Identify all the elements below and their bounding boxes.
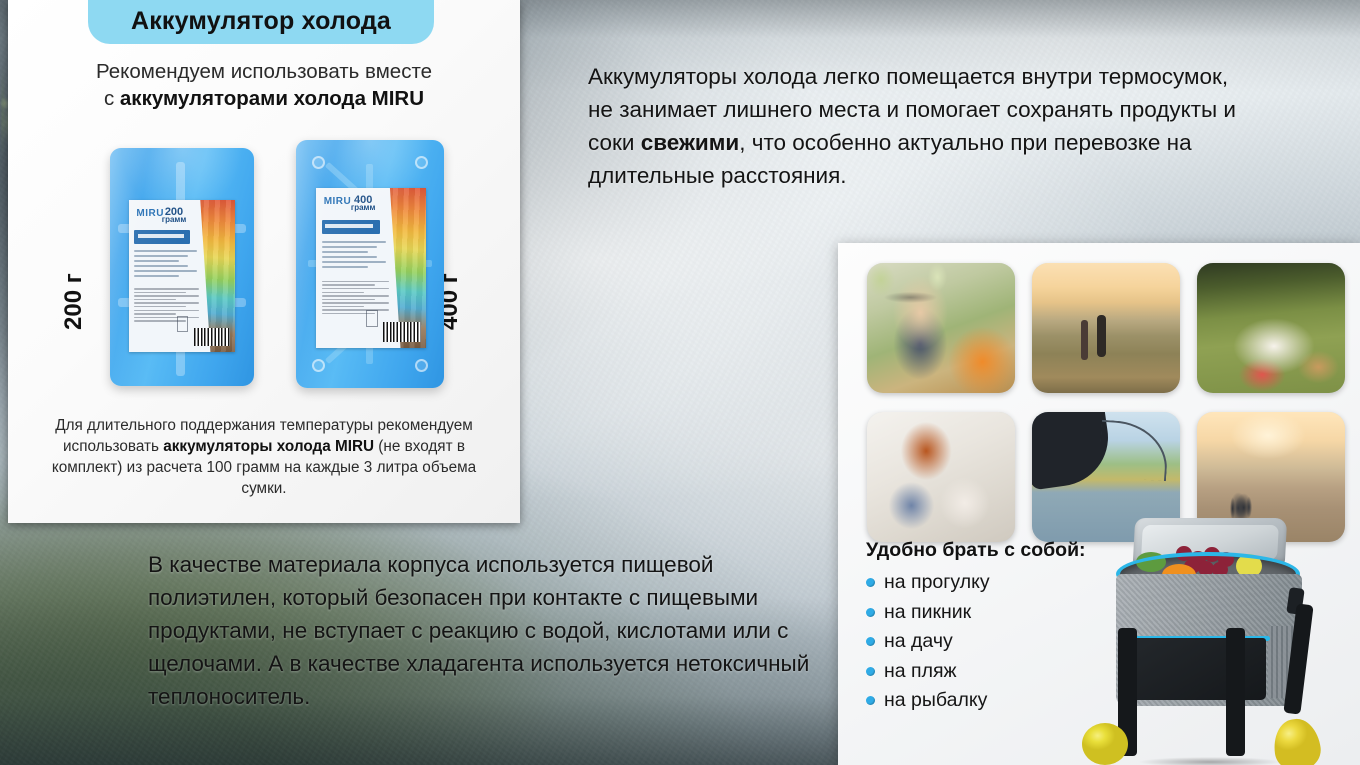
list-item-label: на рыбалку [884,689,987,712]
material-paragraph: В качестве материала корпуса используетс… [148,548,838,713]
card-title-badge: Аккумулятор холода [88,0,434,44]
ice-pack-200g: MIRU 200 грамм [110,148,254,386]
bag-handle-right [1226,628,1245,756]
footnote-bold: аккумуляторы холода MIRU [163,438,374,455]
subheading-line-2-bold: аккумуляторами холода MIRU [120,87,424,110]
list-item-label: на дачу [884,630,953,653]
product-info-card: Аккумулятор холода Рекомендуем использов… [8,0,520,523]
subheading-line-1: Рекомендуем использовать вместе [8,58,520,85]
list-item-label: на пляж [884,660,957,683]
bullet-icon [866,667,875,676]
bullet-icon [866,608,875,617]
pack-200-gloss [110,148,254,386]
photo-mother-baby [867,412,1015,542]
usage-panel: Удобно брать с собой: на прогулку на пик… [838,243,1360,765]
pear-prop [1271,716,1324,765]
lemon-prop [1082,723,1128,765]
bullet-icon [866,578,875,587]
subheading-line-2: с аккумуляторами холода MIRU [8,85,520,112]
photo-gardening [867,263,1015,393]
list-item-label: на прогулку [884,571,990,594]
intro-paragraph: Аккумуляторы холода легко помещается вну… [588,60,1253,192]
card-title-text: Аккумулятор холода [131,7,391,36]
bullet-icon [866,637,875,646]
pack-400-gloss [296,140,444,388]
subheading-line-2-prefix: с [104,87,120,110]
cooler-bag-image [1076,516,1360,765]
card-subheading: Рекомендуем использовать вместе с аккуму… [8,58,520,112]
bullet-icon [866,696,875,705]
lifestyle-photo-grid [867,263,1345,542]
photo-family-picnic [1197,263,1345,393]
list-item-label: на пикник [884,601,971,624]
ice-pack-400g: MIRU 400 грамм [296,140,444,388]
card-footnote: Для длительного поддержания температуры … [28,415,500,499]
intro-emphasis: свежими [641,130,740,155]
ice-pack-images: MIRU 200 грамм [8,140,520,400]
photo-couple-sunset [1032,263,1180,393]
